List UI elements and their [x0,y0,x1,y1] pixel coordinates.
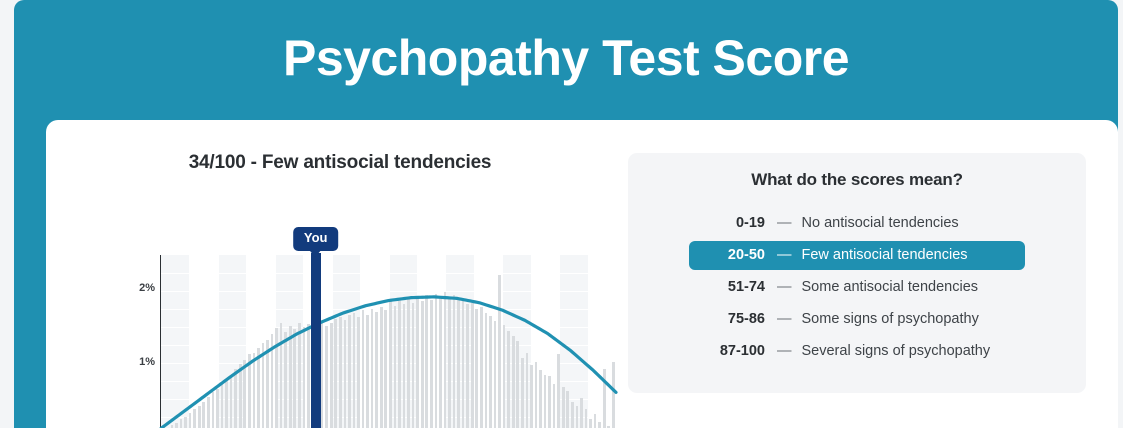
page-title: Psychopathy Test Score [14,30,1118,88]
you-marker-badge: You [293,227,339,251]
score-distribution-chart: 34/100 - Few antisocial tendencies 0%1%2… [85,152,625,428]
score-range-row-inner: 0-19—No antisocial tendencies [689,209,1025,238]
score-range-row[interactable]: 0-19—No antisocial tendencies [628,207,1086,239]
normal-distribution-curve [161,255,616,428]
score-range-label: 0-19 [703,215,765,231]
score-dash: — [777,343,792,359]
score-range-row[interactable]: 87-100—Several signs of psychopathy [628,335,1086,367]
score-range-row[interactable]: 51-74—Some antisocial tendencies [628,271,1086,303]
results-card: 34/100 - Few antisocial tendencies 0%1%2… [46,120,1118,428]
you-marker-line [311,253,321,428]
score-meanings-list: 0-19—No antisocial tendencies20-50—Few a… [628,207,1086,367]
score-range-row-inner: 51-74—Some antisocial tendencies [689,273,1025,302]
score-range-label: 51-74 [703,279,765,295]
score-description: Some antisocial tendencies [802,279,979,295]
score-description: Some signs of psychopathy [802,311,979,327]
y-axis-tick-label: 2% [139,282,155,294]
score-dash: — [777,247,792,263]
score-range-row[interactable]: 20-50—Few antisocial tendencies [628,239,1086,271]
score-range-label: 20-50 [703,247,765,263]
plot-area: 0%1%2% 19507486 [161,255,616,428]
score-description: No antisocial tendencies [802,215,959,231]
score-range-label: 75-86 [703,311,765,327]
score-range-row-inner: 20-50—Few antisocial tendencies [689,241,1025,270]
y-axis-tick-label: 1% [139,356,155,368]
score-dash: — [777,311,792,327]
plot-wrapper: 0%1%2% 19507486 You [85,190,625,428]
score-meanings-panel: What do the scores mean? 0-19—No antisoc… [628,153,1086,393]
chart-title: 34/100 - Few antisocial tendencies [85,152,595,174]
score-range-row-inner: 87-100—Several signs of psychopathy [689,337,1025,366]
score-range-row[interactable]: 75-86—Some signs of psychopathy [628,303,1086,335]
score-dash: — [777,279,792,295]
score-meanings-title: What do the scores mean? [628,170,1086,190]
score-range-label: 87-100 [703,343,765,359]
psychopathy-test-score-page: Psychopathy Test Score 34/100 - Few anti… [0,0,1123,428]
score-range-row-inner: 75-86—Some signs of psychopathy [689,305,1025,334]
score-dash: — [777,215,792,231]
score-description: Few antisocial tendencies [802,247,968,263]
score-description: Several signs of psychopathy [802,343,991,359]
